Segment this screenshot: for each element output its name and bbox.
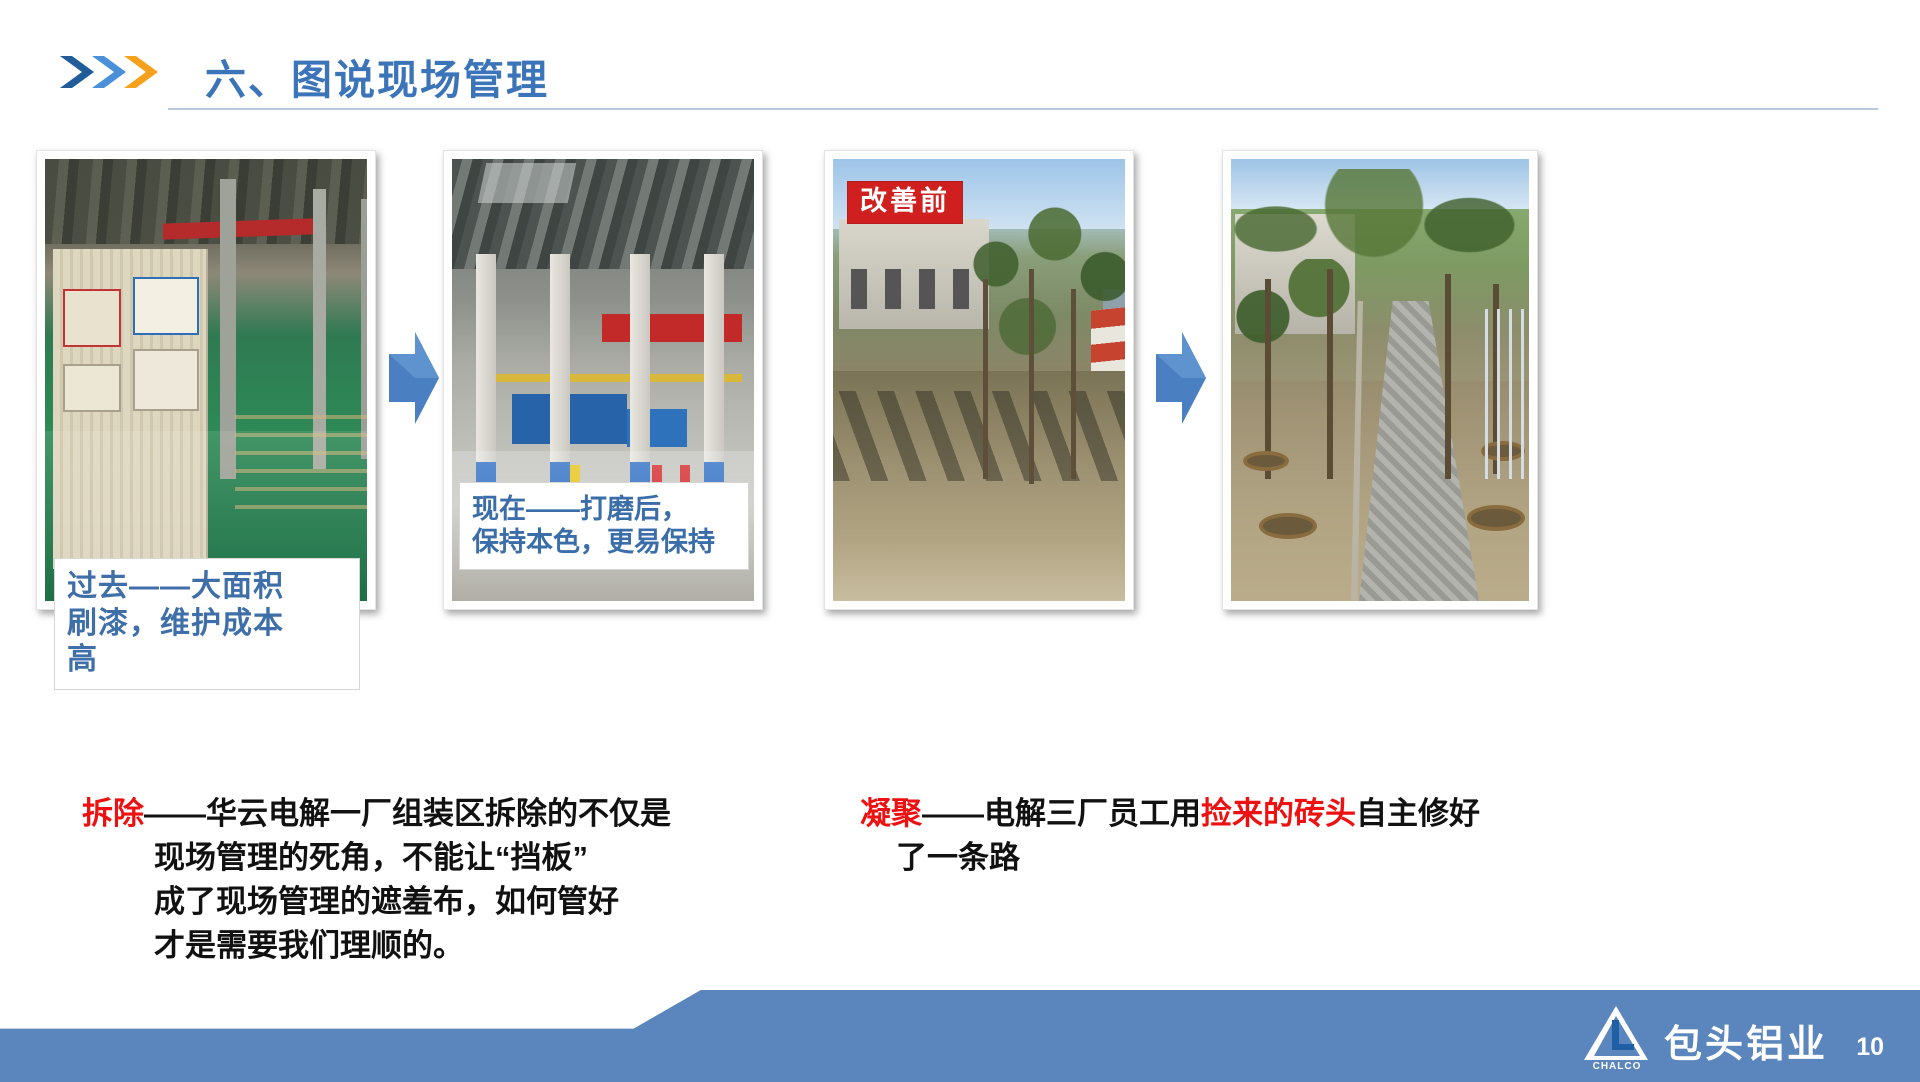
page-number: 10 — [1856, 1033, 1884, 1062]
keyword-demolition: 拆除 — [82, 796, 144, 831]
slide-root: 六、图说现场管理 过去——大面积 刷漆，维护成本 高 — [0, 0, 1920, 1082]
caption-line: 过去——大面积 — [67, 569, 347, 606]
keyword-cohesion: 凝聚 — [860, 796, 922, 831]
title-underline — [168, 108, 1878, 110]
page-title: 六、图说现场管理 — [205, 46, 549, 106]
status-badge-before: 改善前 — [847, 181, 963, 224]
text-block-demolition: 拆除——华云电解一厂组装区拆除的不仅是 现场管理的死角，不能让“挡板” 成了现场… — [82, 792, 782, 968]
text-line-2: 现场管理的死角，不能让“挡板” — [154, 840, 588, 875]
text-block-cohesion: 凝聚——电解三厂员工用捡来的砖头自主修好 了一条路 — [860, 792, 1600, 880]
caption-line: 刷漆，维护成本 — [67, 606, 347, 643]
caption-line: 现在——打磨后， — [472, 493, 736, 526]
arrow-right-1 — [385, 318, 441, 438]
dash: —— — [922, 796, 984, 831]
triple-chevron-icon — [58, 52, 168, 92]
photo-before-road: 改善前 — [824, 150, 1134, 610]
caption-after-polish: 现在——打磨后， 保持本色，更易保持 — [459, 482, 749, 570]
photo-3-image: 改善前 — [833, 159, 1125, 601]
caption-line: 高 — [67, 642, 347, 679]
photo-after-road — [1222, 150, 1538, 610]
text-line: 拆除——华云电解一厂组装区拆除的不仅是 — [82, 792, 782, 836]
dash: —— — [144, 796, 206, 831]
arrow-right-2 — [1152, 318, 1208, 438]
slide-header: 六、图说现场管理 — [0, 0, 1920, 130]
keyword-bricks: 捡来的砖头 — [1201, 796, 1356, 831]
photo-1-image — [45, 159, 367, 601]
text-line-3: 成了现场管理的遮羞布，如何管好 — [154, 884, 619, 919]
text-line-4-wrap: 才是需要我们理顺的。 — [82, 924, 782, 968]
text-line-2-wrap: 现场管理的死角，不能让“挡板” — [82, 836, 782, 880]
caption-line: 保持本色，更易保持 — [472, 526, 736, 559]
photo-4-image — [1231, 159, 1529, 601]
chalco-logo: CHALCO — [1582, 1004, 1652, 1070]
photo-before-paint — [36, 150, 376, 610]
footer-brand: 包头铝业 — [1664, 1013, 1828, 1068]
text-line-2-wrap: 了一条路 — [860, 836, 1600, 880]
text-pre: 电解三厂员工用 — [984, 796, 1201, 831]
text-line-1: 华云电解一厂组装区拆除的不仅是 — [206, 796, 671, 831]
text-line-4: 才是需要我们理顺的。 — [154, 928, 464, 963]
text-post: 自主修好 — [1356, 796, 1480, 831]
caption-before-paint: 过去——大面积 刷漆，维护成本 高 — [54, 558, 360, 690]
text-line: 凝聚——电解三厂员工用捡来的砖头自主修好 — [860, 792, 1600, 836]
text-line-2: 了一条路 — [896, 840, 1020, 875]
text-line-3-wrap: 成了现场管理的遮羞布，如何管好 — [82, 880, 782, 924]
chalco-wordmark: CHALCO — [1582, 1061, 1652, 1072]
